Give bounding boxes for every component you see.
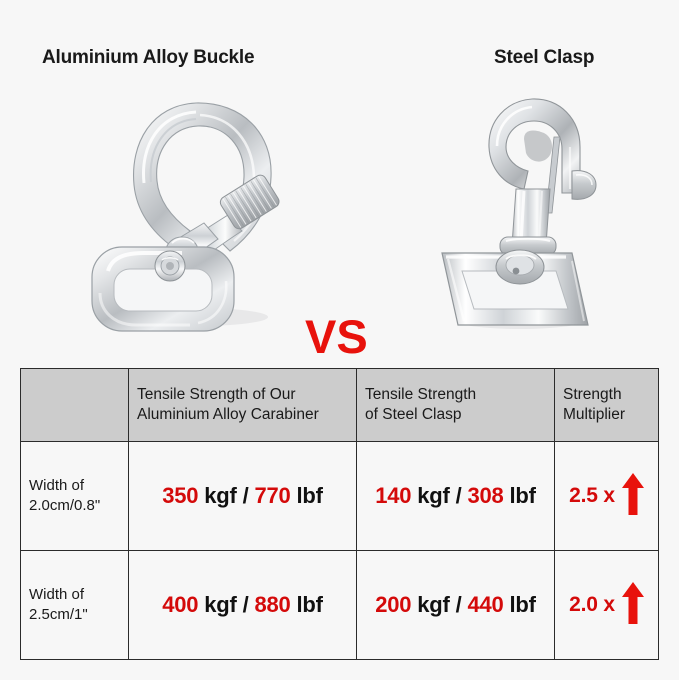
unit-kgf: kgf bbox=[204, 483, 236, 508]
row-label-width-20mm: Width of 2.0cm/0.8" bbox=[21, 442, 129, 551]
value-kgf: 140 bbox=[375, 483, 411, 508]
unit-kgf: kgf bbox=[204, 592, 236, 617]
header-line-1: Strength bbox=[563, 385, 650, 405]
header-cell-blank bbox=[21, 369, 129, 442]
value-separator: / bbox=[456, 483, 462, 508]
product-comparison-stage: VS bbox=[0, 85, 679, 340]
value-lbf: 770 bbox=[254, 483, 290, 508]
unit-lbf: lbf bbox=[509, 592, 535, 617]
header-cell-multiplier: Strength Multiplier bbox=[555, 369, 659, 442]
cell-steel-strength-row1: 140 kgf / 308 lbf bbox=[357, 442, 555, 551]
row-label-line-2: 2.0cm/0.8" bbox=[29, 496, 120, 516]
row-label-line-1: Width of bbox=[29, 585, 120, 605]
unit-lbf: lbf bbox=[296, 483, 322, 508]
table-row: Width of 2.0cm/0.8" 350 kgf / 770 lbf 14… bbox=[21, 442, 659, 551]
value-separator: / bbox=[243, 592, 249, 617]
strength-comparison-table: Tensile Strength of Our Aluminium Alloy … bbox=[20, 368, 659, 660]
value-separator: / bbox=[243, 483, 249, 508]
cell-multiplier-row2: 2.0 x bbox=[555, 551, 659, 660]
arrow-up-icon bbox=[622, 473, 644, 520]
value-kgf: 200 bbox=[375, 592, 411, 617]
value-kgf: 350 bbox=[162, 483, 198, 508]
steel-clasp-image bbox=[420, 85, 625, 335]
cell-steel-strength-row2: 200 kgf / 440 lbf bbox=[357, 551, 555, 660]
product-heading-steel: Steel Clasp bbox=[494, 47, 594, 69]
cell-aluminium-strength-row1: 350 kgf / 770 lbf bbox=[129, 442, 357, 551]
header-line-2: of Steel Clasp bbox=[365, 405, 546, 425]
row-label-line-2: 2.5cm/1" bbox=[29, 605, 120, 625]
value-lbf: 308 bbox=[467, 483, 503, 508]
vs-label: VS bbox=[305, 313, 368, 360]
header-line-2: Multiplier bbox=[563, 405, 650, 425]
value-lbf: 880 bbox=[254, 592, 290, 617]
cell-aluminium-strength-row2: 400 kgf / 880 lbf bbox=[129, 551, 357, 660]
value-lbf: 440 bbox=[467, 592, 503, 617]
header-cell-aluminium: Tensile Strength of Our Aluminium Alloy … bbox=[129, 369, 357, 442]
aluminium-alloy-carabiner-image bbox=[78, 85, 318, 335]
value-separator: / bbox=[456, 592, 462, 617]
row-label-width-25mm: Width of 2.5cm/1" bbox=[21, 551, 129, 660]
header-line-1: Tensile Strength bbox=[365, 385, 546, 405]
row-label-line-1: Width of bbox=[29, 476, 120, 496]
unit-lbf: lbf bbox=[296, 592, 322, 617]
unit-lbf: lbf bbox=[509, 483, 535, 508]
multiplier-value: 2.0 x bbox=[569, 593, 615, 617]
cell-multiplier-row1: 2.5 x bbox=[555, 442, 659, 551]
multiplier-value: 2.5 x bbox=[569, 484, 615, 508]
table-row: Width of 2.5cm/1" 400 kgf / 880 lbf 200 … bbox=[21, 551, 659, 660]
unit-kgf: kgf bbox=[417, 592, 449, 617]
header-cell-steel: Tensile Strength of Steel Clasp bbox=[357, 369, 555, 442]
value-kgf: 400 bbox=[162, 592, 198, 617]
table-header-row: Tensile Strength of Our Aluminium Alloy … bbox=[21, 369, 659, 442]
header-line-2: Aluminium Alloy Carabiner bbox=[137, 405, 348, 425]
header-line-1: Tensile Strength of Our bbox=[137, 385, 348, 405]
arrow-up-icon bbox=[622, 582, 644, 629]
product-heading-aluminium: Aluminium Alloy Buckle bbox=[42, 47, 254, 69]
unit-kgf: kgf bbox=[417, 483, 449, 508]
